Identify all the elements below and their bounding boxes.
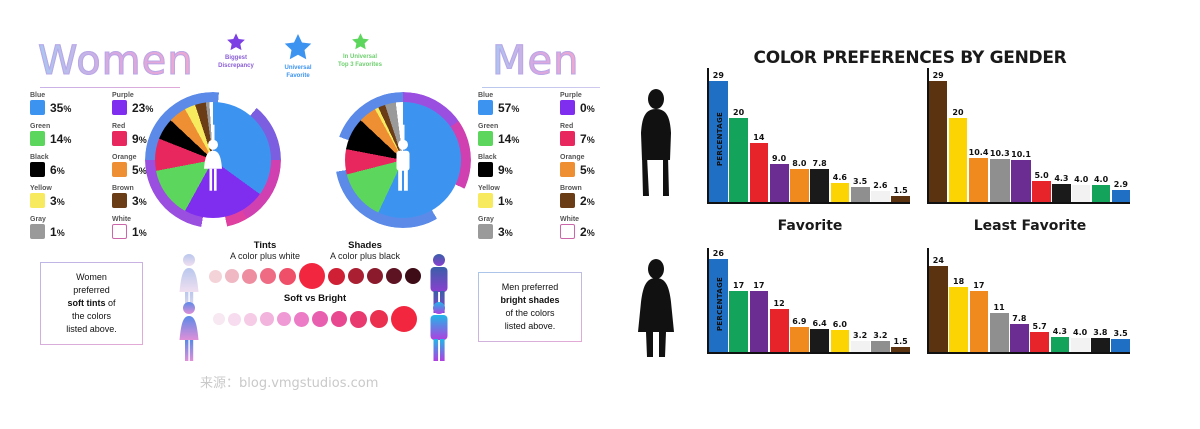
legend-item-orange: Orange5%	[560, 154, 628, 177]
bar	[949, 118, 967, 202]
legend-item-yellow: Yellow1%	[478, 185, 546, 208]
legend-swatch-red-icon	[112, 131, 127, 146]
legend-percentage: 1%	[50, 225, 65, 239]
bar-column-gray: 3.5	[851, 68, 870, 202]
chart-women-favorite: 261717126.96.46.03.23.21.5PERCENTAGE	[695, 248, 910, 360]
legend-value-row: 57%	[478, 100, 546, 115]
legend-percentage: 5%	[580, 163, 595, 177]
legend-color-name: Purple	[560, 92, 628, 99]
soft-bright-dot-10	[391, 306, 417, 332]
soft-bright-swatch-row	[170, 304, 460, 334]
shades-subtitle: A color plus black	[330, 251, 400, 261]
star-legend-item-0: BiggestDiscrepancy	[208, 32, 264, 70]
bar-column-white: 4.0	[1071, 248, 1090, 352]
legend-percentage: 9%	[132, 132, 147, 146]
y-axis-label: PERCENTAGE	[716, 277, 724, 331]
women-callout-line2: preferred	[73, 285, 110, 295]
bar	[810, 169, 829, 202]
bar-value-label: 7.8	[1012, 314, 1026, 323]
legend-percentage: 1%	[498, 194, 513, 208]
bar-column-white: 3.2	[851, 248, 870, 352]
bar-column-black: 7.8	[810, 68, 829, 202]
women-heading: Women	[38, 38, 194, 84]
legend-swatch-blue-icon	[30, 100, 45, 115]
legend-percentage: 35%	[50, 101, 71, 115]
bar-value-label: 12	[774, 299, 785, 308]
bar-value-label: 29	[933, 71, 944, 80]
men-heading: Men	[492, 38, 579, 84]
bar	[1051, 337, 1070, 352]
bar-column-black: 4.3	[1052, 68, 1070, 202]
legend-value-row: 2%	[560, 193, 628, 208]
women-callout-line5: listed above.	[66, 324, 117, 334]
x-axis	[927, 352, 1130, 354]
legend-swatch-brown-icon	[560, 193, 575, 208]
bar-value-label: 4.0	[1094, 175, 1108, 184]
legend-color-name: Orange	[560, 154, 628, 161]
bar	[1111, 339, 1130, 352]
legend-value-row: 14%	[478, 131, 546, 146]
bar-value-label: 14	[753, 133, 764, 142]
legend-value-row: 9%	[478, 162, 546, 177]
legend-value-row: 7%	[560, 131, 628, 146]
legend-color-name: Gray	[30, 216, 98, 223]
bar-column-orange: 10.4	[969, 68, 989, 202]
bar-column-blue: 3.5	[1111, 248, 1130, 352]
tints-subtitle: A color plus white	[230, 251, 300, 261]
bar-column-red: 5.7	[1030, 248, 1049, 352]
man-figure-bright-icon	[426, 300, 452, 364]
legend-item-green: Green14%	[478, 123, 546, 146]
least-favorite-column-header: Least Favorite	[920, 218, 1140, 234]
bar-column-yellow: 4.6	[831, 68, 850, 202]
legend-percentage: 2%	[580, 194, 595, 208]
bar-value-label: 5.7	[1033, 322, 1047, 331]
bar-value-label: 24	[933, 256, 944, 265]
legend-color-name: Yellow	[478, 185, 546, 192]
bar	[810, 329, 829, 352]
star-icon	[226, 32, 246, 52]
star-legend-item-2: In UniversalTop 3 Favorites	[332, 32, 388, 69]
men-callout-line1: Men preferred	[502, 282, 559, 292]
star-caption: In UniversalTop 3 Favorites	[332, 53, 388, 69]
women-callout-line4: the colors	[72, 311, 111, 321]
legend-item-red: Red7%	[560, 123, 628, 146]
bar-series: 2920149.08.07.84.63.52.61.5	[709, 68, 910, 202]
bar-column-blue: 2.9	[1112, 68, 1130, 202]
x-axis	[927, 202, 1130, 204]
tint-shade-dot-6	[328, 268, 345, 285]
bar-value-label: 4.0	[1074, 175, 1088, 184]
bar	[871, 341, 890, 352]
bar	[990, 313, 1009, 352]
bar	[729, 291, 748, 352]
legend-value-row: 3%	[30, 193, 98, 208]
bar	[929, 81, 947, 202]
charts-title: COLOR PREFERENCES BY GENDER	[620, 48, 1200, 68]
tint-shade-dot-3	[260, 268, 276, 284]
bar-value-label: 4.0	[1073, 328, 1087, 337]
soft-vs-bright-title: Soft vs Bright	[170, 293, 460, 304]
legend-swatch-green-icon	[478, 131, 493, 146]
right-charts-panel: COLOR PREFERENCES BY GENDER Favorite Lea…	[620, 0, 1200, 429]
bar-value-label: 1.5	[894, 186, 908, 195]
legend-swatch-white-icon	[112, 224, 127, 239]
bar-value-label: 3.2	[873, 331, 887, 340]
shades-heading-block: Shades A color plus black	[330, 240, 400, 261]
legend-percentage: 3%	[498, 225, 513, 239]
soft-bright-dot-7	[331, 311, 347, 327]
bar	[831, 330, 850, 352]
star-caption: UniversalFavorite	[270, 64, 326, 80]
soft-bright-dot-3	[260, 312, 274, 326]
bar	[990, 159, 1010, 202]
bar-column-brown: 1.5	[891, 248, 910, 352]
legend-value-row: 0%	[560, 100, 628, 115]
legend-item-blue: Blue35%	[30, 92, 98, 115]
bar-column-green: 20	[729, 68, 748, 202]
bar-value-label: 17	[753, 281, 764, 290]
legend-value-row: 35%	[30, 100, 98, 115]
bar-series: 241817117.85.74.34.03.83.5	[929, 248, 1130, 352]
tint-shade-swatch-row	[170, 261, 460, 291]
bar	[770, 164, 789, 202]
legend-swatch-white-icon	[560, 224, 575, 239]
tints-shades-section: Tints A color plus white Shades A color …	[170, 240, 460, 334]
men-callout-line4: listed above.	[505, 321, 556, 331]
bar-value-label: 17	[973, 281, 984, 290]
bar-value-label: 6.9	[792, 317, 806, 326]
bar-column-yellow: 18	[949, 248, 968, 352]
legend-swatch-orange-icon	[112, 162, 127, 177]
legend-item-blue: Blue57%	[478, 92, 546, 115]
legend-swatch-red-icon	[560, 131, 575, 146]
bar-value-label: 4.3	[1053, 327, 1067, 336]
legend-percentage: 2%	[580, 225, 595, 239]
legend-color-name: Black	[30, 154, 98, 161]
legend-percentage: 23%	[132, 101, 153, 115]
y-axis-label: PERCENTAGE	[716, 112, 724, 166]
chart-men-least-favorite: 292010.410.310.15.04.34.04.02.9	[915, 68, 1130, 210]
soft-bright-dot-2	[244, 313, 257, 326]
bar-value-label: 17	[733, 281, 744, 290]
bar-column-red: 14	[750, 68, 769, 202]
legend-value-row: 5%	[560, 162, 628, 177]
bar-value-label: 1.5	[894, 337, 908, 346]
men-pie-chart	[345, 102, 461, 218]
legend-value-row: 3%	[478, 224, 546, 239]
bar-column-purple: 7.8	[1010, 248, 1029, 352]
legend-percentage: 1%	[132, 225, 147, 239]
bar-column-black: 6.4	[810, 248, 829, 352]
bar	[871, 191, 890, 202]
bar	[1032, 181, 1050, 202]
legend-item-white: White2%	[560, 216, 628, 239]
tint-shade-dot-1	[225, 269, 239, 283]
bar-value-label: 20	[733, 108, 744, 117]
bar	[750, 291, 769, 352]
male-silhouette-icon	[634, 88, 678, 200]
legend-percentage: 9%	[498, 163, 513, 177]
bar-column-yellow: 6.0	[831, 248, 850, 352]
bar-column-green: 4.3	[1051, 248, 1070, 352]
bar-column-purple: 10.1	[1011, 68, 1031, 202]
legend-swatch-gray-icon	[478, 224, 493, 239]
bar-column-green: 17	[729, 248, 748, 352]
tint-shade-dot-7	[348, 268, 364, 284]
bar	[969, 158, 989, 202]
legend-color-name: Brown	[560, 185, 628, 192]
bar-value-label: 3.8	[1093, 328, 1107, 337]
legend-percentage: 3%	[50, 194, 65, 208]
left-infographic-panel: Women Men Blue35%Purple23%Green14%Red9%B…	[0, 0, 620, 429]
woman-figure-icon	[200, 111, 226, 208]
bar-value-label: 20	[952, 108, 963, 117]
legend-color-name: Red	[560, 123, 628, 130]
legend-value-row: 1%	[30, 224, 98, 239]
legend-percentage: 57%	[498, 101, 519, 115]
legend-swatch-black-icon	[30, 162, 45, 177]
legend-swatch-purple-icon	[112, 100, 127, 115]
bar-value-label: 5.0	[1034, 171, 1048, 180]
star-icon	[351, 32, 370, 51]
bar	[1010, 324, 1029, 352]
legend-percentage: 7%	[580, 132, 595, 146]
men-title-divider	[482, 87, 600, 88]
legend-item-brown: Brown2%	[560, 185, 628, 208]
bar	[851, 341, 870, 352]
bar-column-brown: 24	[929, 248, 948, 352]
soft-bright-dot-1	[228, 313, 241, 326]
legend-percentage: 14%	[50, 132, 71, 146]
bar	[1052, 184, 1070, 202]
x-axis	[707, 202, 910, 204]
legend-item-white: White1%	[112, 216, 180, 239]
legend-color-name: White	[560, 216, 628, 223]
bar-value-label: 4.6	[833, 173, 847, 182]
legend-swatch-yellow-icon	[30, 193, 45, 208]
legend-color-name: Blue	[30, 92, 98, 99]
bar-value-label: 2.6	[873, 181, 887, 190]
bar	[1011, 160, 1031, 202]
legend-color-name: Black	[478, 154, 546, 161]
bar-column-brown: 29	[929, 68, 947, 202]
man-figure-icon	[390, 111, 416, 208]
bar-value-label: 2.9	[1114, 180, 1128, 189]
legend-item-black: Black9%	[478, 154, 546, 177]
soft-bright-dot-8	[350, 311, 367, 328]
bar-column-orange: 17	[970, 248, 989, 352]
tint-shade-dot-10	[405, 268, 421, 284]
soft-bright-dot-5	[294, 312, 309, 327]
men-callout-emphasis: bright shades	[500, 295, 559, 305]
bar-column-orange: 8.0	[790, 68, 809, 202]
legend-color-name: Green	[30, 123, 98, 130]
female-silhouette-icon	[634, 258, 678, 360]
bar	[1071, 338, 1090, 352]
tint-shade-dot-4	[279, 268, 296, 285]
women-callout-emphasis: soft tints	[67, 298, 105, 308]
bar	[750, 143, 769, 202]
bar-value-label: 29	[713, 71, 724, 80]
legend-swatch-yellow-icon	[478, 193, 493, 208]
tint-shade-dot-9	[386, 268, 402, 284]
soft-bright-dot-6	[312, 311, 328, 327]
legend-color-name: Green	[478, 123, 546, 130]
bar-value-label: 4.3	[1054, 174, 1068, 183]
legend-percentage: 3%	[132, 194, 147, 208]
tints-title: Tints	[230, 240, 300, 251]
bar-value-label: 8.0	[792, 159, 806, 168]
legend-item-yellow: Yellow3%	[30, 185, 98, 208]
bar-column-black: 3.8	[1091, 248, 1110, 352]
bar	[851, 187, 870, 202]
bar-column-orange: 6.9	[790, 248, 809, 352]
favorite-column-header: Favorite	[700, 218, 920, 234]
bar	[970, 291, 989, 352]
bar-column-red: 5.0	[1032, 68, 1050, 202]
plot-area: 241817117.85.74.34.03.83.5	[929, 248, 1130, 352]
bar-column-gray: 10.3	[990, 68, 1010, 202]
legend-percentage: 14%	[498, 132, 519, 146]
bar-value-label: 26	[713, 249, 724, 258]
plot-area: 292010.410.310.15.04.34.04.02.9	[929, 68, 1130, 202]
men-callout-line3: of the colors	[505, 308, 554, 318]
y-axis	[927, 68, 929, 202]
legend-item-black: Black6%	[30, 154, 98, 177]
bar-value-label: 11	[994, 303, 1005, 312]
chart-men-favorite: 2920149.08.07.84.63.52.61.5PERCENTAGE	[695, 68, 910, 210]
bar-value-label: 3.5	[853, 177, 867, 186]
bar-value-label: 9.0	[772, 154, 786, 163]
soft-bright-dot-9	[370, 310, 388, 328]
star-legend-item-1: UniversalFavorite	[270, 32, 326, 80]
y-axis	[927, 248, 929, 352]
women-preference-callout: Women preferred soft tints of the colors…	[40, 262, 143, 345]
bar	[790, 169, 809, 203]
tint-shade-dot-8	[367, 268, 383, 284]
legend-value-row: 6%	[30, 162, 98, 177]
tint-shade-dot-5	[299, 263, 325, 289]
left-source-attribution: 来源：blog.vmgstudios.com	[200, 372, 378, 391]
star-legend: BiggestDiscrepancyUniversalFavoriteIn Un…	[208, 32, 388, 80]
bar-value-label: 18	[953, 277, 964, 286]
legend-value-row: 2%	[560, 224, 628, 239]
bar	[1030, 332, 1049, 352]
bar-column-purple: 9.0	[770, 68, 789, 202]
bar-value-label: 7.8	[813, 159, 827, 168]
bar-column-gray: 11	[990, 248, 1009, 352]
legend-swatch-orange-icon	[560, 162, 575, 177]
legend-swatch-black-icon	[478, 162, 493, 177]
legend-item-green: Green14%	[30, 123, 98, 146]
plot-area: 261717126.96.46.03.23.21.5	[709, 248, 910, 352]
bar-value-label: 6.4	[813, 319, 827, 328]
bar-series: 261717126.96.46.03.23.21.5	[709, 248, 910, 352]
woman-figure-soft-bright-icon	[176, 300, 202, 364]
bar	[949, 287, 968, 352]
star-caption: BiggestDiscrepancy	[208, 54, 264, 70]
tint-shade-dot-2	[242, 269, 257, 284]
soft-bright-heading-block: Soft vs Bright	[170, 293, 460, 304]
tints-heading-block: Tints A color plus white	[230, 240, 300, 261]
bar-column-red: 12	[770, 248, 789, 352]
bar-value-label: 6.0	[833, 320, 847, 329]
legend-swatch-gray-icon	[30, 224, 45, 239]
bar-column-white: 2.6	[871, 68, 890, 202]
legend-percentage: 6%	[50, 163, 65, 177]
star-icon	[283, 32, 313, 62]
x-axis	[707, 352, 910, 354]
men-preference-callout: Men preferred bright shades of the color…	[478, 272, 582, 342]
bar-column-gray: 3.2	[871, 248, 890, 352]
bar-column-green: 4.0	[1092, 68, 1110, 202]
bar	[1112, 190, 1130, 202]
bar-column-yellow: 20	[949, 68, 967, 202]
bar-value-label: 10.4	[969, 148, 989, 157]
legend-value-row: 1%	[478, 193, 546, 208]
tint-shade-dot-0	[209, 270, 222, 283]
bar-value-label: 3.5	[1114, 329, 1128, 338]
bar-value-label: 10.1	[1011, 150, 1031, 159]
legend-item-gray: Gray1%	[30, 216, 98, 239]
soft-bright-dot-0	[213, 313, 225, 325]
women-title-divider	[40, 87, 180, 88]
bar-column-brown: 1.5	[891, 68, 910, 202]
chart-women-least-favorite: 241817117.85.74.34.03.83.5	[915, 248, 1130, 360]
legend-swatch-purple-icon	[560, 100, 575, 115]
legend-swatch-blue-icon	[478, 100, 493, 115]
bar-column-white: 4.0	[1072, 68, 1090, 202]
bar-value-label: 10.3	[990, 149, 1010, 158]
bar	[729, 118, 748, 202]
women-pie-chart	[155, 102, 271, 218]
plot-area: 2920149.08.07.84.63.52.61.5	[709, 68, 910, 202]
bar-value-label: 3.2	[853, 331, 867, 340]
legend-swatch-green-icon	[30, 131, 45, 146]
legend-value-row: 1%	[112, 224, 180, 239]
bar	[1091, 338, 1110, 352]
legend-color-name: Blue	[478, 92, 546, 99]
y-axis	[707, 248, 709, 352]
bar	[929, 266, 948, 352]
men-color-legend: Blue57%Purple0%Green14%Red7%Black9%Orang…	[478, 92, 628, 239]
legend-percentage: 0%	[580, 101, 595, 115]
bar	[1072, 185, 1090, 202]
legend-swatch-brown-icon	[112, 193, 127, 208]
legend-value-row: 14%	[30, 131, 98, 146]
soft-bright-dot-4	[277, 312, 291, 326]
bar	[1092, 185, 1110, 202]
legend-color-name: Purple	[112, 92, 180, 99]
bar-series: 292010.410.310.15.04.34.04.02.9	[929, 68, 1130, 202]
bar	[770, 309, 789, 352]
women-callout-line1: Women	[76, 272, 107, 282]
shades-title: Shades	[330, 240, 400, 251]
legend-item-purple: Purple0%	[560, 92, 628, 115]
legend-color-name: Yellow	[30, 185, 98, 192]
legend-item-gray: Gray3%	[478, 216, 546, 239]
bar	[790, 327, 809, 352]
bar	[831, 183, 850, 202]
y-axis	[707, 68, 709, 202]
legend-color-name: Gray	[478, 216, 546, 223]
women-callout-after: of	[105, 298, 115, 308]
bar-column-purple: 17	[750, 248, 769, 352]
